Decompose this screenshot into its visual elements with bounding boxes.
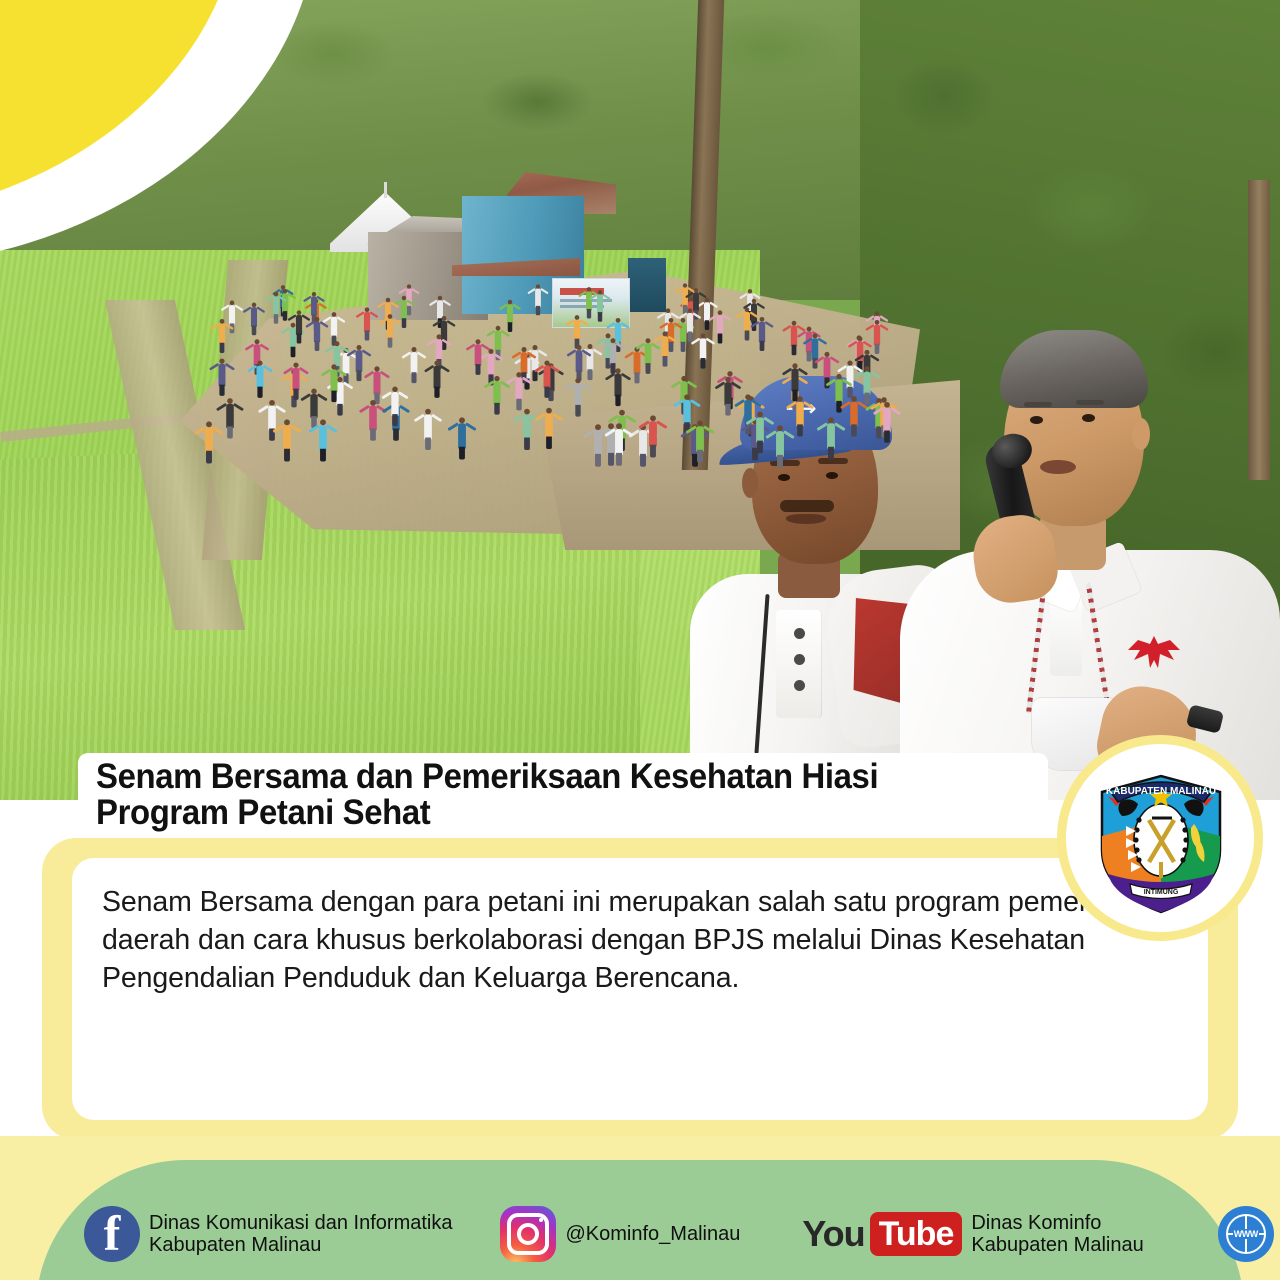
crowd-person bbox=[693, 293, 699, 312]
crowd-person bbox=[759, 322, 765, 343]
crowd-person bbox=[436, 339, 443, 360]
crowd-person bbox=[369, 406, 377, 431]
website-logo-text: WWW bbox=[1233, 1229, 1259, 1239]
crowd-person bbox=[219, 364, 226, 387]
crowd-person bbox=[824, 357, 831, 379]
facebook-line2: Kabupaten Malinau bbox=[149, 1234, 452, 1256]
social-instagram[interactable]: @Kominfo_Malinau bbox=[500, 1206, 740, 1262]
crowd-person bbox=[717, 315, 723, 335]
shirt-button bbox=[794, 654, 805, 665]
crowd-person bbox=[756, 417, 764, 442]
crowd-person bbox=[574, 383, 581, 406]
page-title: Senam Bersama dan Pemeriksaan Kesehatan … bbox=[96, 759, 974, 832]
speaker-hair bbox=[1000, 330, 1148, 408]
body-text: Senam Bersama dengan para petani ini mer… bbox=[102, 884, 1178, 998]
instagram-glyph bbox=[507, 1213, 549, 1255]
crowd-person bbox=[229, 305, 235, 325]
crowd-person bbox=[311, 296, 317, 315]
crowd-person bbox=[387, 319, 393, 339]
crowd-person bbox=[364, 312, 370, 332]
poster-root: ⟶ bbox=[0, 0, 1280, 1280]
body-card: Senam Bersama dengan para petani ini mer… bbox=[72, 858, 1208, 1120]
crowd-person bbox=[662, 336, 669, 357]
instagram-handle: @Kominfo_Malinau bbox=[565, 1223, 740, 1245]
crowd-person bbox=[356, 350, 363, 372]
crowd-person bbox=[835, 379, 842, 402]
crowd-person bbox=[544, 366, 551, 389]
eyebrow bbox=[1076, 400, 1104, 405]
crowd-person bbox=[319, 425, 327, 450]
crowd-person bbox=[687, 313, 693, 333]
crowd-person bbox=[634, 352, 641, 374]
youtube-label: Dinas Kominfo Kabupaten Malinau bbox=[971, 1212, 1143, 1257]
crowd-person bbox=[863, 372, 870, 395]
crowd-person bbox=[507, 304, 513, 324]
crowd-person bbox=[586, 292, 592, 311]
crowd-person bbox=[495, 331, 501, 352]
social-youtube[interactable]: You Tube Dinas Kominfo Kabupaten Malinau bbox=[802, 1212, 1143, 1257]
globe-glyph: WWW bbox=[1226, 1214, 1266, 1254]
eye bbox=[778, 474, 790, 481]
crowd-person bbox=[330, 370, 337, 393]
crowd-person bbox=[314, 322, 320, 343]
crowd-person bbox=[874, 325, 880, 346]
crowd-person bbox=[883, 408, 891, 433]
crowd-person bbox=[273, 296, 279, 315]
crowd-person bbox=[696, 426, 704, 451]
crowd-person bbox=[597, 294, 603, 313]
crowd-person bbox=[391, 392, 398, 416]
eye bbox=[1030, 416, 1043, 424]
youtube-logo-you: You bbox=[802, 1213, 864, 1255]
facebook-icon bbox=[84, 1206, 140, 1262]
crowd-person bbox=[796, 402, 804, 426]
crowd-person bbox=[535, 289, 541, 308]
crowd-person bbox=[610, 343, 617, 365]
youtube-icon: You Tube bbox=[802, 1212, 962, 1256]
crowd-person bbox=[251, 307, 257, 327]
crowd-person bbox=[791, 369, 798, 392]
crowd-person bbox=[827, 423, 835, 448]
kabupaten-malinau-emblem: KABUPATEN MALINAU INTIMUNG bbox=[1086, 758, 1236, 918]
crowd-person bbox=[401, 300, 407, 320]
crowd-person bbox=[639, 430, 647, 456]
crowd-person bbox=[615, 429, 623, 455]
crowd-person bbox=[574, 320, 580, 340]
crowd-person bbox=[521, 352, 528, 374]
crowd-person bbox=[257, 366, 264, 389]
man-cap-ear bbox=[742, 468, 758, 498]
eye bbox=[826, 472, 838, 479]
crowd-person bbox=[283, 425, 291, 450]
instagram-icon bbox=[500, 1206, 556, 1262]
garuda-badge bbox=[1124, 630, 1184, 674]
crowd-person bbox=[649, 421, 657, 446]
youtube-line1: Dinas Kominfo bbox=[971, 1212, 1143, 1234]
crowd-person bbox=[226, 404, 234, 428]
crowd-person bbox=[776, 431, 784, 457]
crowd-person bbox=[700, 338, 707, 359]
moustache bbox=[780, 500, 834, 512]
emblem-ribbon-text: KABUPATEN MALINAU bbox=[1106, 786, 1216, 797]
crowd-person bbox=[434, 366, 441, 389]
crowd-person bbox=[205, 427, 213, 452]
mouth bbox=[1040, 460, 1076, 474]
crowd-person bbox=[310, 394, 317, 418]
crowd-person bbox=[614, 374, 621, 397]
youtube-logo-tube: Tube bbox=[870, 1212, 963, 1256]
youtube-line2: Kabupaten Malinau bbox=[971, 1234, 1143, 1256]
crowd-person bbox=[576, 350, 583, 372]
crowd-person bbox=[411, 352, 418, 374]
facebook-line1: Dinas Komunikasi dan Informatika bbox=[149, 1212, 452, 1234]
eye bbox=[1082, 414, 1095, 422]
crowd-person bbox=[373, 372, 380, 395]
speaker-with-microphone bbox=[900, 300, 1280, 800]
speaker-ear bbox=[1132, 418, 1150, 450]
crowd-person bbox=[331, 317, 337, 337]
crowd-person bbox=[268, 406, 276, 431]
shirt-button bbox=[794, 628, 805, 639]
website-icon: WWW bbox=[1218, 1206, 1274, 1262]
crowd-person bbox=[850, 402, 858, 426]
crowd-person bbox=[488, 354, 495, 376]
crowd-person bbox=[293, 368, 300, 391]
crowd-person bbox=[475, 344, 482, 366]
crowd-person bbox=[296, 315, 302, 335]
eyebrow bbox=[1024, 402, 1052, 407]
crowd-person bbox=[458, 423, 466, 448]
crowd-person bbox=[515, 377, 522, 400]
instagram-label: @Kominfo_Malinau bbox=[565, 1223, 740, 1245]
crowd-person bbox=[594, 430, 602, 456]
crowd-person bbox=[493, 381, 500, 404]
headline-banner: Senam Bersama dan Pemeriksaan Kesehatan … bbox=[78, 753, 1048, 845]
shirt-button bbox=[794, 680, 805, 691]
facebook-label: Dinas Komunikasi dan Informatika Kabupat… bbox=[149, 1212, 452, 1257]
crowd-person bbox=[424, 415, 432, 440]
crowd-person bbox=[683, 400, 690, 424]
social-media-row: Dinas Komunikasi dan Informatika Kabupat… bbox=[0, 1196, 1280, 1272]
crowd-person bbox=[523, 415, 531, 440]
emblem-motto-text: INTIMUNG bbox=[1144, 889, 1179, 896]
mouth bbox=[786, 514, 826, 524]
crowd-person bbox=[744, 312, 750, 332]
social-facebook[interactable]: Dinas Komunikasi dan Informatika Kabupat… bbox=[84, 1206, 452, 1262]
crowd-person bbox=[219, 324, 225, 345]
social-website[interactable]: WWW Malinau.go.id bbox=[1218, 1206, 1280, 1262]
crowd-person bbox=[545, 414, 553, 439]
crowd-person bbox=[282, 293, 288, 312]
crowd-person bbox=[812, 338, 819, 359]
crowd-person bbox=[645, 343, 652, 365]
crowd-person bbox=[724, 382, 731, 405]
